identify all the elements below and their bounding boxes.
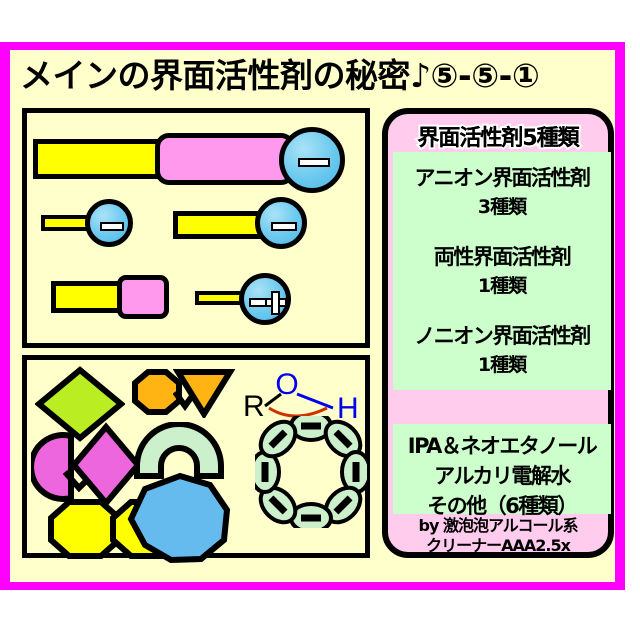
panel-heading: 界面活性剤5種類 xyxy=(388,120,608,152)
plus-sign-vertical-icon xyxy=(271,291,280,315)
other-line-0: IPA＆ネオエタノール xyxy=(393,430,611,460)
group-count-1: 1種類 xyxy=(393,271,611,298)
credit-text: by 激泡泡アルコール系 クリーナーAAA2.5x xyxy=(388,516,608,556)
head-blue-circle xyxy=(239,273,291,325)
blue-nonagon-shape xyxy=(127,472,233,564)
head-blue-circle xyxy=(279,127,345,193)
outer-magenta-frame: メインの界面活性剤の秘密♪⑤-⑤-① xyxy=(0,42,625,590)
orange-triangle-shape xyxy=(173,366,235,418)
group-name-0: アニオン界面活性剤 xyxy=(393,162,611,192)
other-line-1: アルカリ電解水 xyxy=(393,460,611,490)
head-blue-circle xyxy=(85,199,133,247)
surfactant-groups-box: アニオン界面活性剤 3種類 両性界面活性剤 1種類 ノニオン界面活性剤 1種類 xyxy=(393,152,611,390)
group-count-0: 3種類 xyxy=(393,192,611,219)
minus-sign-icon xyxy=(298,158,330,167)
tail-yellow-bar xyxy=(173,211,267,239)
body-pink-bar xyxy=(155,133,295,185)
micelle-shapes-panel: R O H 109° xyxy=(22,355,370,558)
group-count-2: 1種類 xyxy=(393,350,611,377)
credit-line-0: by 激泡泡アルコール系 xyxy=(388,516,608,536)
body-pink-block xyxy=(117,275,169,319)
head-blue-circle xyxy=(255,197,307,249)
surfactant-molecule-panel xyxy=(22,108,370,348)
minus-sign-icon xyxy=(100,222,124,231)
credit-line-1: クリーナーAAA2.5x xyxy=(388,536,608,556)
minus-sign-icon xyxy=(271,222,297,231)
surfactant-summary-panel: 界面活性剤5種類 界面活性剤5種類 アニオン界面活性剤 3種類 両性界面活性剤 … xyxy=(382,108,614,558)
mint-minus-ring xyxy=(255,416,367,528)
page-title: メインの界面活性剤の秘密♪⑤-⑤-① xyxy=(20,52,620,100)
infographic-sheet: メインの界面活性剤の秘密♪⑤-⑤-① xyxy=(10,50,615,582)
group-name-2: ノニオン界面活性剤 xyxy=(393,320,611,350)
group-name-1: 両性界面活性剤 xyxy=(393,241,611,271)
other-ingredients-box: IPA＆ネオエタノール アルカリ電解水 その他（6種類） xyxy=(393,424,611,514)
